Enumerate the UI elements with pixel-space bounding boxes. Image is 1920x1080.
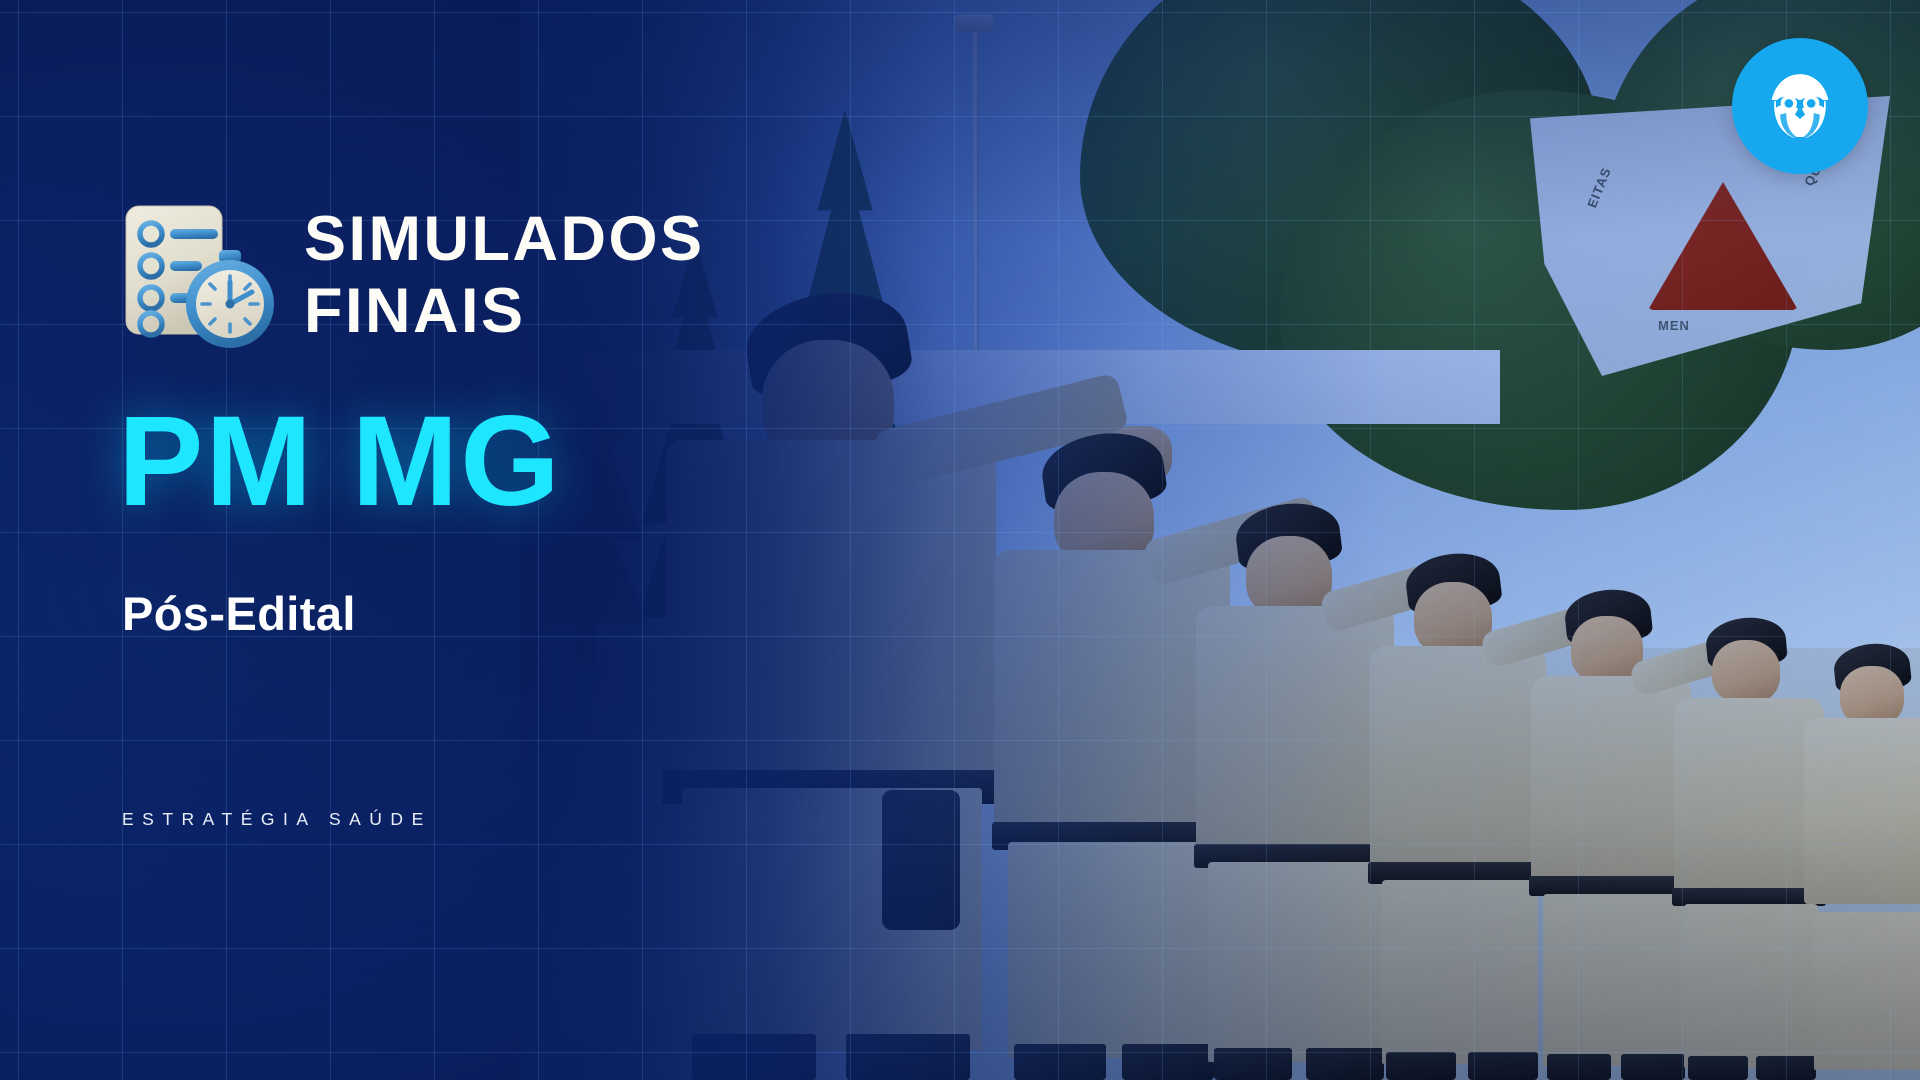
- eyebrow-line-2: FINAIS: [304, 280, 705, 343]
- eyebrow-text: SIMULADOS FINAIS: [304, 208, 705, 343]
- text-content: SIMULADOS FINAIS PM MG Pós-Edital Estrat…: [0, 0, 860, 1080]
- checklist-stopwatch-icon: [120, 196, 278, 354]
- subtitle: Pós-Edital: [122, 586, 356, 641]
- brand-label: Estratégia Saúde: [122, 809, 432, 830]
- eyebrow-line-1: SIMULADOS: [304, 204, 705, 274]
- page-title: PM MG: [118, 398, 562, 526]
- owl-logo-icon[interactable]: [1732, 38, 1868, 174]
- eyebrow-row: SIMULADOS FINAIS: [120, 196, 705, 354]
- promo-banner: EITAS QU MEN: [0, 0, 1920, 1080]
